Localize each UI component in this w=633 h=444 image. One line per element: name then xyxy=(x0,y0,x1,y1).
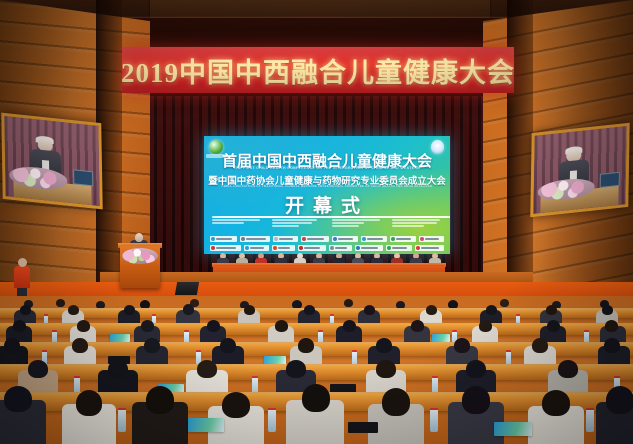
conference-folder xyxy=(110,334,130,342)
attendee-head xyxy=(77,320,90,332)
attendee-head xyxy=(275,320,288,332)
attendee-head xyxy=(542,390,570,416)
audience-desk-row xyxy=(0,364,633,380)
organizer-column xyxy=(332,216,384,238)
auditorium-photo: 2019中国中西融合儿童健康大会 首届中国中西融合儿童健康大会 THE FIRS… xyxy=(0,0,633,444)
attendee-head xyxy=(364,305,375,315)
sponsor-chip xyxy=(329,245,352,251)
staff-head xyxy=(18,258,27,267)
attendee-head xyxy=(604,338,620,353)
attendee-head xyxy=(486,305,497,315)
water-bottle xyxy=(586,408,594,432)
sponsor-chip xyxy=(272,245,295,251)
org-text-line xyxy=(212,219,260,221)
sponsor-chip xyxy=(244,245,269,251)
org-text-line xyxy=(392,222,437,224)
org-text-line xyxy=(332,222,364,224)
left-projection-screen xyxy=(1,113,102,210)
attendee-head xyxy=(76,390,102,416)
attendee-head xyxy=(606,386,633,414)
attendee-head xyxy=(304,305,315,315)
org-text-line xyxy=(392,219,440,221)
attendee-head xyxy=(28,360,48,378)
attendee-head xyxy=(344,299,353,307)
conference-folder xyxy=(494,422,532,436)
sponsor-chip xyxy=(386,245,412,251)
water-bottle xyxy=(118,408,126,432)
sponsor-chip xyxy=(273,236,298,242)
screen-title-en: THE FIRST CHILD HEALTH CONFERENCE ON THE… xyxy=(204,166,450,170)
attendee-head xyxy=(479,320,492,332)
sponsor-chip xyxy=(332,236,358,242)
screen-subtitle-en: CHINA ASSOCIATION OF TRADITIONAL CHINESE… xyxy=(204,184,450,188)
sponsor-chip xyxy=(390,236,416,242)
org-text-line xyxy=(272,225,299,227)
attendee-head xyxy=(605,320,618,332)
attendee-head xyxy=(56,299,65,307)
attendee-head xyxy=(286,360,306,378)
attendee-head xyxy=(4,338,20,353)
attendee-head xyxy=(546,305,557,315)
attendee-head xyxy=(144,338,160,353)
sponsor-chip xyxy=(419,236,444,242)
attendee-head xyxy=(68,305,79,315)
org-text-line xyxy=(392,225,424,227)
org-text-line xyxy=(332,219,380,221)
organizer-text-columns xyxy=(212,216,444,238)
attendee-head xyxy=(382,388,410,416)
attendee-head xyxy=(13,320,26,332)
organizer-column xyxy=(272,216,324,238)
org-text-line xyxy=(272,219,317,221)
organizer-column xyxy=(212,216,264,238)
sponsor-chip xyxy=(355,245,383,251)
stage-floor-monitor xyxy=(175,282,199,295)
org-heading-line xyxy=(392,216,450,218)
attendee-head xyxy=(602,305,613,315)
attendee-head xyxy=(558,360,578,378)
org-text-line xyxy=(212,222,244,224)
attendee-head xyxy=(244,305,255,315)
right-projection-screen xyxy=(530,123,629,217)
attendee-head xyxy=(207,320,220,332)
org-text-line xyxy=(332,225,359,227)
main-led-screen: 首届中国中西融合儿童健康大会 THE FIRST CHILD HEALTH CO… xyxy=(204,136,450,254)
podium-flower-arrangement xyxy=(122,248,158,264)
attendee-head xyxy=(302,384,330,412)
attendee-head xyxy=(376,338,392,353)
attendee-head xyxy=(454,338,470,353)
attendee-head xyxy=(20,305,31,315)
attendee-head xyxy=(146,386,174,414)
sponsor-chip-row xyxy=(210,236,444,242)
staff-member xyxy=(14,258,30,298)
sponsor-chip xyxy=(210,245,241,251)
attendee-head xyxy=(222,392,250,418)
water-bottle xyxy=(268,408,276,432)
attendee-head xyxy=(343,320,356,332)
staff-red-shirt xyxy=(14,266,30,288)
sponsor-chip xyxy=(210,236,237,242)
attendee-head xyxy=(298,338,314,353)
sponsor-logo-strip xyxy=(210,236,444,251)
sponsor-chip xyxy=(301,236,329,242)
screen-headline-opening-ceremony: 开幕式 xyxy=(204,191,450,218)
sponsor-chip xyxy=(240,236,271,242)
attendee-head xyxy=(108,360,128,378)
conference-title-banner: 2019中国中西融合儿童健康大会 xyxy=(122,47,514,93)
attendee-head xyxy=(466,360,486,378)
water-bottle xyxy=(430,408,438,432)
banner-title-text: 2019中国中西融合儿童健康大会 xyxy=(122,51,514,90)
attendee-head xyxy=(376,360,396,378)
audience-seating xyxy=(0,296,633,444)
attendee-head xyxy=(141,320,154,332)
conference-folder xyxy=(188,418,224,432)
attendee-head xyxy=(500,299,509,307)
attendee-head xyxy=(183,304,194,315)
attendee-head xyxy=(532,338,548,353)
attendee-head xyxy=(547,320,560,332)
podium-speaker-head xyxy=(135,233,143,242)
attendee-head xyxy=(462,386,490,414)
organizer-column xyxy=(392,216,444,238)
attendee-head xyxy=(124,305,135,315)
sponsor-chip xyxy=(298,245,325,251)
sponsor-chip xyxy=(415,245,444,251)
attendee-head xyxy=(4,386,32,412)
attendee-head xyxy=(72,338,88,353)
sponsor-chip-row xyxy=(210,245,444,251)
attendee-head xyxy=(411,320,424,332)
attendee-head xyxy=(220,338,236,353)
attendee-head xyxy=(426,305,437,315)
org-text-line xyxy=(272,222,312,224)
sponsor-chip xyxy=(361,236,388,242)
conference-folder xyxy=(432,334,450,342)
tablet-device xyxy=(348,422,378,433)
attendee-head xyxy=(197,360,217,378)
